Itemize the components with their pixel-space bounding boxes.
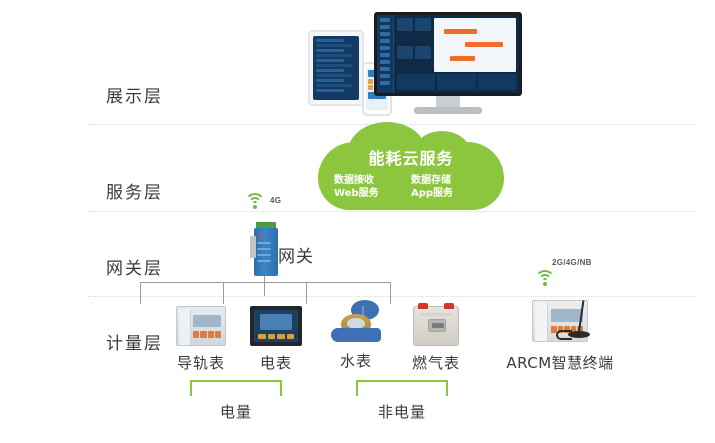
bracket-non-electricity [356,382,448,396]
layer-label-gateway: 网关层 [106,254,196,279]
monitor-screen [374,12,522,96]
monitor-dashboard [394,15,519,93]
layer-divider-gateway-metering [88,296,696,297]
antenna-icon [556,300,596,344]
network-tag-4g: 4G [270,196,281,205]
water-meter-icon [329,300,383,344]
meter-electric: 电表 [245,306,307,373]
tablet-screen [313,36,359,100]
meter-label-din-rail: 导轨表 [170,352,232,373]
arcm-terminal-label: ARCM智慧终端 [500,352,620,373]
din-rail-meter-icon [176,306,226,346]
monitor-neck [436,96,460,107]
desktop-monitor-icon [374,12,522,116]
meter-water: 水表 [325,300,387,371]
tablet-icon [308,30,364,106]
energy-cloud-service: 能耗云服务 数据接收 Web服务 数据存储 App服务 [318,142,504,210]
gas-meter-icon [413,306,459,346]
connector-stem [264,276,265,296]
wifi-icon-arcm [534,270,556,286]
connector-branch-4 [390,282,391,304]
display-devices-group [308,12,538,116]
dashboard-map [434,18,516,72]
meter-din-rail: 导轨表 [170,306,232,373]
gateway-body [254,228,278,276]
network-tag-2g-4g-nb: 2G/4G/NB [552,258,592,267]
connector-branch-2 [223,282,224,304]
architecture-diagram: 展示层 服务层 网关层 计量层 [0,0,715,443]
layer-divider-service-gateway [88,211,696,212]
wifi-icon-gateway [244,193,266,209]
bracket-label-electricity: 电量 [176,401,296,422]
gateway-label: 网关 [278,242,314,267]
cloud-service-app: App服务 [411,187,453,200]
panel-meter-icon [250,306,302,346]
connector-branch-3 [306,282,307,304]
cloud-service-data-receive: 数据接收 [334,174,374,187]
meter-label-water: 水表 [325,350,387,371]
cloud-service-web: Web服务 [334,187,379,200]
connector-bus [140,282,390,283]
monitor-base [414,107,482,114]
gateway-device-icon [250,222,280,276]
bracket-label-non-electricity: 非电量 [342,401,462,422]
layer-label-service: 服务层 [106,178,196,203]
meter-gas: 燃气表 [405,306,467,373]
bracket-electricity [190,382,282,396]
meter-label-electric: 电表 [245,352,307,373]
cloud-service-data-storage: 数据存储 [411,174,451,187]
connector-branch-1 [140,282,141,304]
meter-label-gas: 燃气表 [405,352,467,373]
monitor-sidebar [377,15,394,93]
gateway-port [250,236,256,258]
cloud-title: 能耗云服务 [318,145,504,169]
gateway-led-icon [259,234,262,237]
layer-label-display: 展示层 [106,82,196,107]
